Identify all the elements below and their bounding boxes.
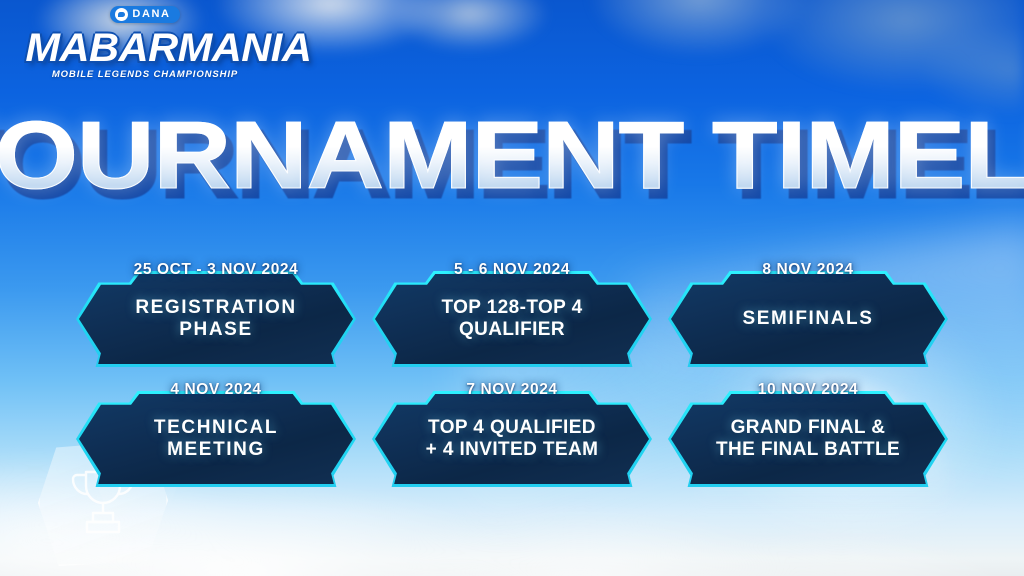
timeline-grid: 25 OCT - 3 NOV 2024 REGISTRATION PHASE 5… [0,262,1024,488]
card-label: TECHNICAL MEETING [76,391,356,487]
card-label: SEMIFINALS [668,271,948,367]
card-date: 7 NOV 2024 [372,382,652,398]
timeline-card[interactable]: 4 NOV 2024 TECHNICAL MEETING [76,382,356,488]
timeline-card[interactable]: 8 NOV 2024 SEMIFINALS [668,262,948,368]
tournament-timeline-poster: DANA MABARMANIA MOBILE LEGENDS CHAMPIONS… [0,0,1024,576]
card-label: TOP 4 QUALIFIED + 4 INVITED TEAM [372,391,652,487]
timeline-card[interactable]: 25 OCT - 3 NOV 2024 REGISTRATION PHASE [76,262,356,368]
brand-logo: DANA MABARMANIA MOBILE LEGENDS CHAMPIONS… [30,6,260,80]
card-label: REGISTRATION PHASE [76,271,356,367]
card-label: TOP 128-TOP 4 QUALIFIER [372,271,652,367]
timeline-card[interactable]: 10 NOV 2024 GRAND FINAL & THE FINAL BATT… [668,382,948,488]
card-date: 8 NOV 2024 [668,262,948,278]
brand-tagline: MOBILE LEGENDS CHAMPIONSHIP [30,69,260,80]
wordmark-part-2: MANIA [178,26,312,70]
timeline-card[interactable]: 7 NOV 2024 TOP 4 QUALIFIED + 4 INVITED T… [372,382,652,488]
card-label: GRAND FINAL & THE FINAL BATTLE [668,391,948,487]
card-date: 10 NOV 2024 [668,382,948,398]
card-date: 5 - 6 NOV 2024 [372,262,652,278]
mabar-mania-wordmark: MABARMANIA [25,29,264,67]
timeline-card[interactable]: 5 - 6 NOV 2024 TOP 128-TOP 4 QUALIFIER [372,262,652,368]
page-title-text: TOURNAMENT TIMELINE [0,102,1024,209]
dana-label: DANA [132,9,170,20]
card-date: 25 OCT - 3 NOV 2024 [76,262,356,278]
wordmark-part-1: MABAR [25,26,177,70]
dana-badge: DANA [110,6,179,23]
page-title: TOURNAMENT TIMELINE TOURNAMENT TIMELINE [0,108,1024,204]
card-date: 4 NOV 2024 [76,382,356,398]
dana-bubble-icon [115,8,128,21]
